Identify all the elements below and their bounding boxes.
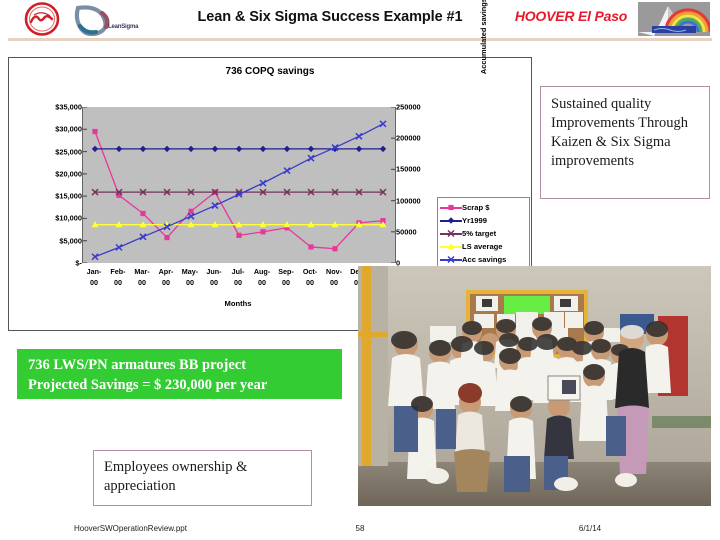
- y-tick-left: $25,000: [36, 147, 82, 156]
- slide-header: LeanSigma Lean & Six Sigma Success Examp…: [0, 0, 720, 42]
- legend-item: Acc savings: [440, 253, 526, 266]
- project-savings-banner: 736 LWS/PN armatures BB project Projecte…: [17, 349, 342, 399]
- chart-legend: Scrap $Yr19995% targetLS averageAcc savi…: [437, 197, 530, 270]
- y-tick-left: $15,000: [36, 192, 82, 201]
- chart-y-axis-label-right: Accumulated savings $: [479, 0, 488, 98]
- hoover-logo-icon: [22, 2, 62, 36]
- legend-item: Yr1999: [440, 214, 526, 227]
- chart-plot-area: [82, 107, 396, 263]
- footer-date: 6/1/14: [560, 524, 620, 533]
- legend-item: LS average: [440, 240, 526, 253]
- y-tick-right: 250000: [396, 103, 446, 112]
- brand-hoover-elpaso: HOOVER El Paso: [508, 8, 634, 24]
- legend-item: 5% target: [440, 227, 526, 240]
- callout-employee-ownership: Employees ownership & appreciation: [93, 450, 312, 506]
- banner-line-1: 736 LWS/PN armatures BB project: [28, 355, 342, 375]
- y-tick-left: $35,000: [36, 103, 82, 112]
- leansigma-logo-icon: LeanSigma: [72, 4, 150, 36]
- legend-item: Scrap $: [440, 201, 526, 214]
- y-tick-left: $30,000: [36, 125, 82, 134]
- y-tick-left: $10,000: [36, 214, 82, 223]
- legend-marker-icon: [440, 254, 462, 265]
- y-tick-right: 150000: [396, 165, 446, 174]
- legend-marker-icon: [440, 241, 462, 252]
- y-tick-right: 200000: [396, 134, 446, 143]
- legend-marker-icon: [440, 215, 462, 226]
- chart-y-axis-left: $-$5,000$10,000$15,000$20,000$25,000$30,…: [36, 107, 82, 263]
- legend-label: 5% target: [462, 229, 496, 238]
- chart-title: 736 COPQ savings: [9, 66, 531, 77]
- legend-label: LS average: [462, 242, 503, 251]
- banner-line-2: Projected Savings = $ 230,000 per year: [28, 375, 342, 395]
- y-tick-left: $20,000: [36, 169, 82, 178]
- callout-sustained-quality: Sustained quality Improvements Through K…: [540, 86, 710, 199]
- header-divider: [8, 38, 712, 41]
- mountain-rainbow-logo-icon: [638, 2, 710, 36]
- page-title: Lean & Six Sigma Success Example #1: [160, 9, 500, 25]
- slide-footer: HooverSWOperationReview.ppt 58 6/1/14: [0, 524, 720, 538]
- legend-label: Scrap $: [462, 203, 489, 212]
- legend-label: Yr1999: [462, 216, 487, 225]
- y-tick-left: $5,000: [36, 236, 82, 245]
- chart-x-axis-label: Months: [82, 299, 394, 308]
- team-photo: [358, 266, 711, 506]
- footer-page-number: 58: [340, 524, 380, 533]
- legend-label: Acc savings: [462, 255, 506, 264]
- legend-marker-icon: [440, 202, 462, 213]
- y-tick-left: $-: [36, 259, 82, 268]
- leansigma-logo-label: LeanSigma: [108, 24, 138, 30]
- legend-marker-icon: [440, 228, 462, 239]
- slide: LeanSigma Lean & Six Sigma Success Examp…: [0, 0, 720, 540]
- footer-filename: HooverSWOperationReview.ppt: [74, 524, 187, 533]
